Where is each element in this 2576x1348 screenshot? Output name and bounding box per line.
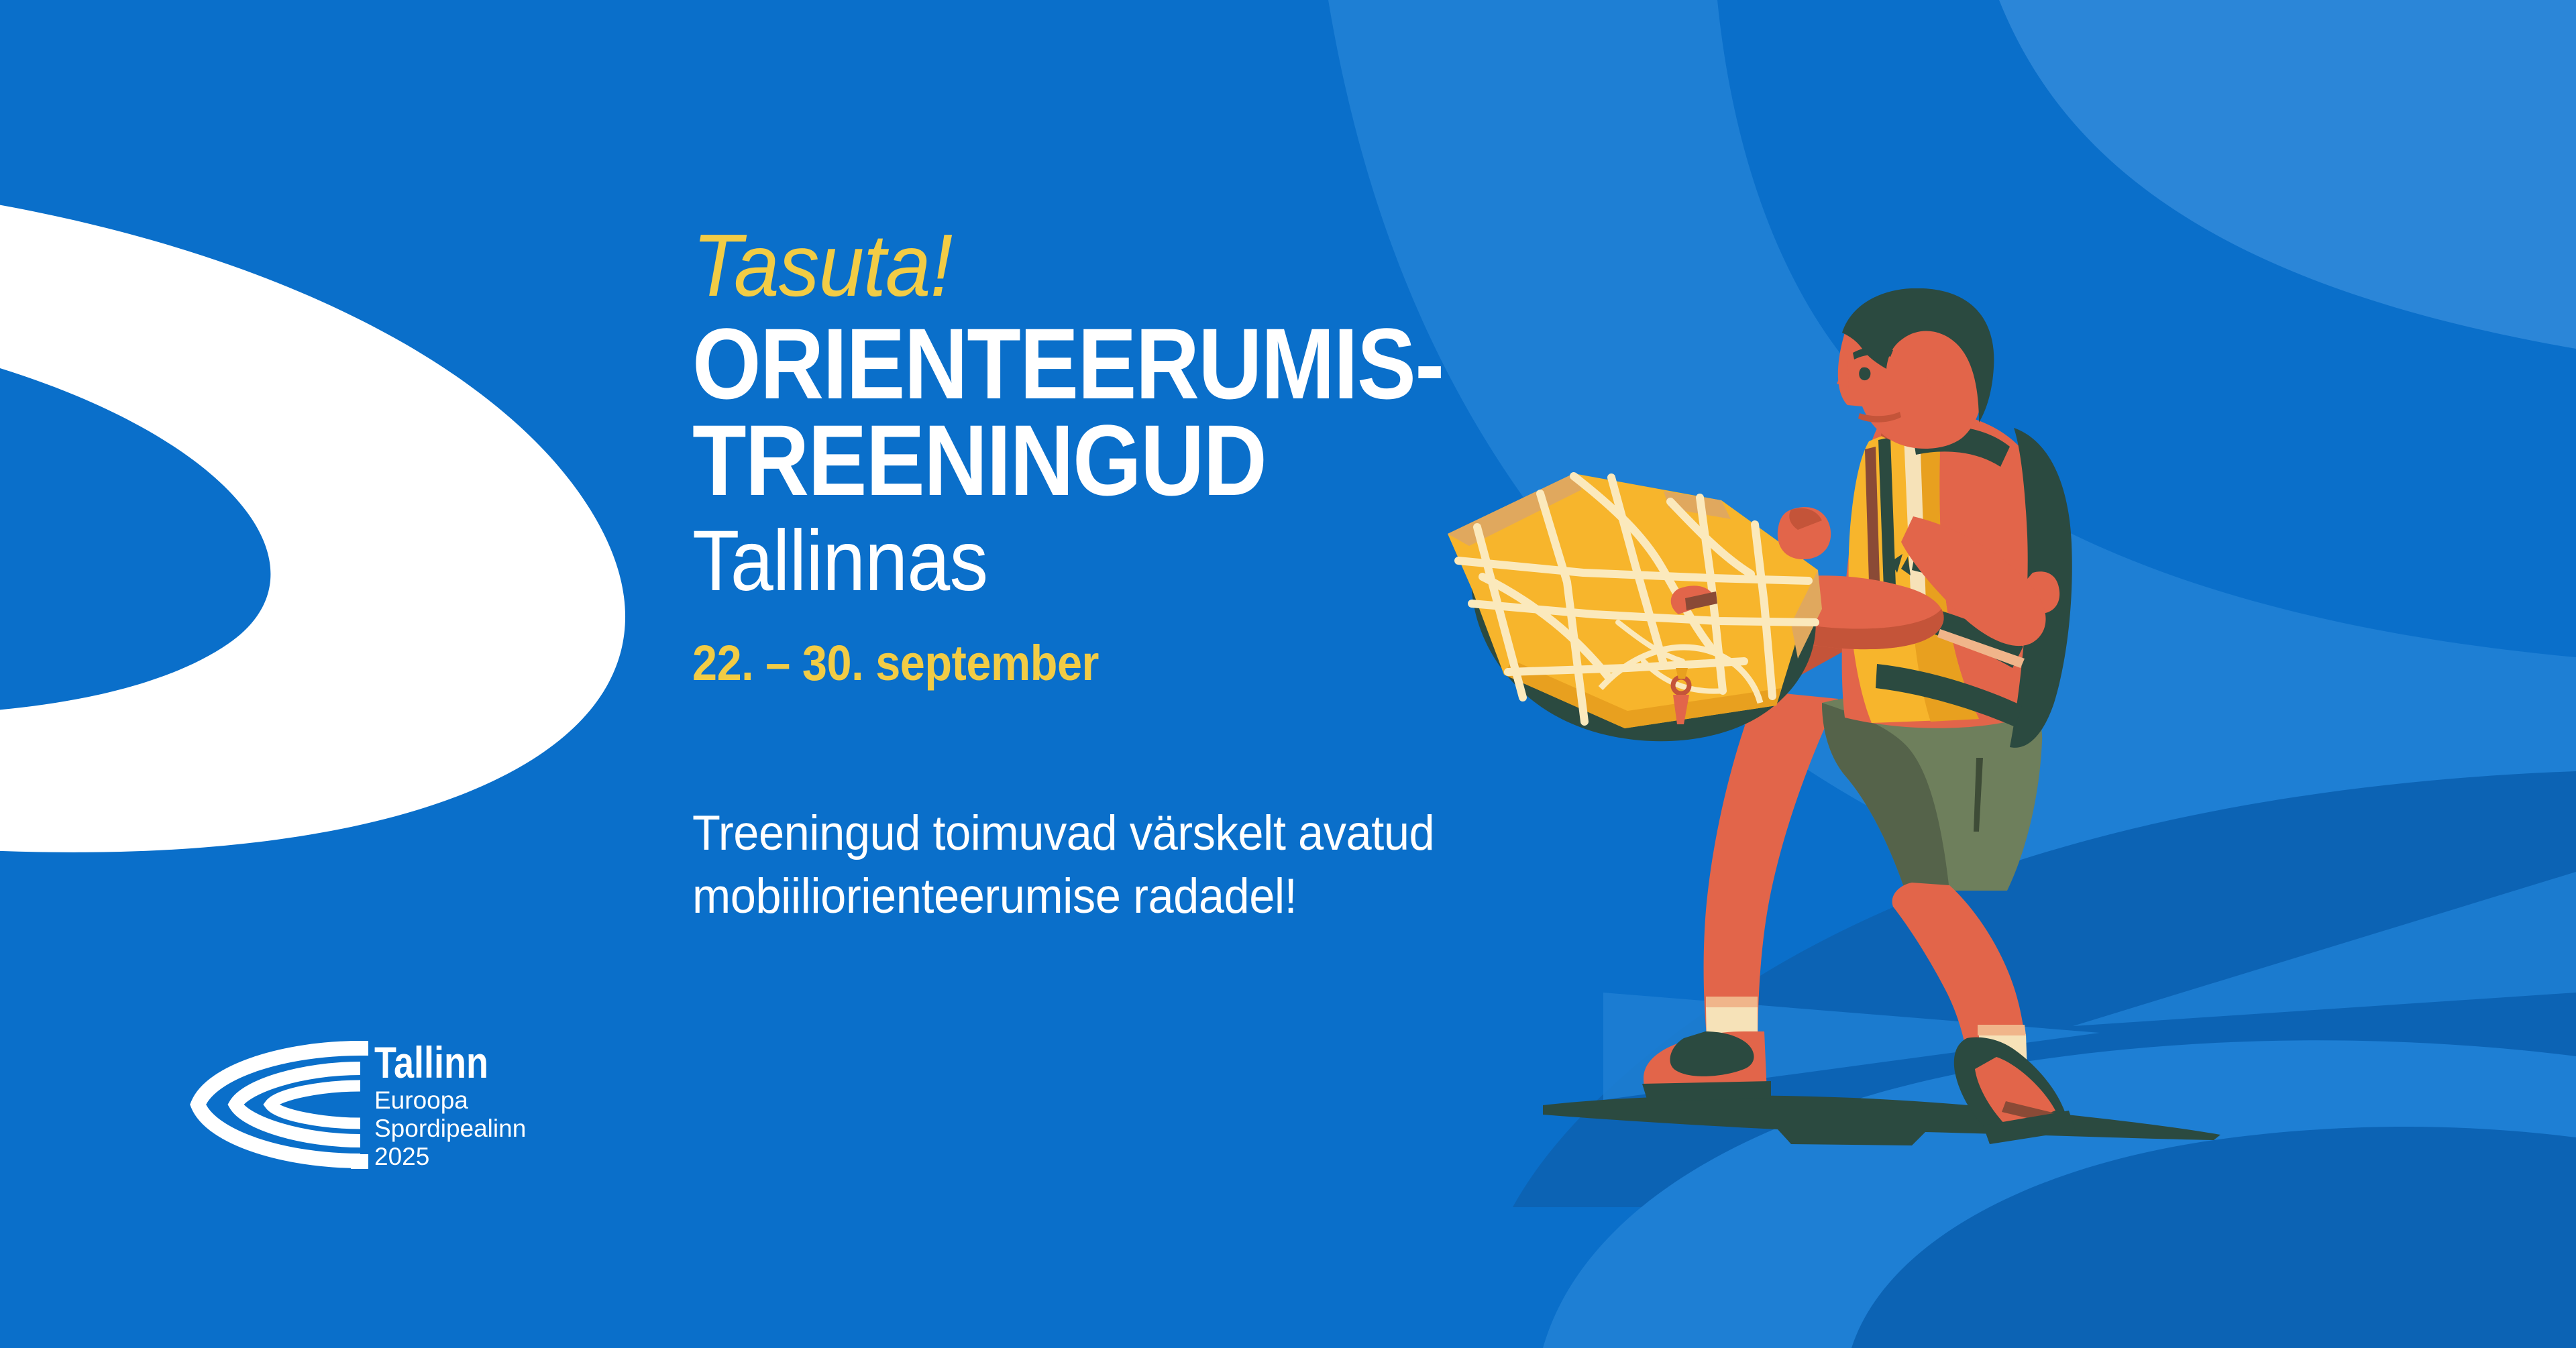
back-sock-stripe xyxy=(1706,997,1758,1007)
logo-arc-cap-top xyxy=(351,1041,368,1056)
logo-wordmark: Tallinn xyxy=(374,1037,488,1087)
back-shoe-sole xyxy=(1642,1081,1771,1101)
body-line-1: Treeningud toimuvad värskelt avatud xyxy=(692,802,1638,864)
copy-block: Tasuta! ORIENTEERUMIS- TREENINGUD Tallin… xyxy=(692,221,1699,928)
headline: ORIENTEERUMIS- TREENINGUD xyxy=(692,315,1578,508)
logo-arcs-icon xyxy=(198,1048,360,1161)
body-line-2: mobiiliorienteerumise radadel! xyxy=(692,865,1638,928)
logo-year: 2025 xyxy=(374,1143,429,1170)
body-text: Treeningud toimuvad värskelt avatud mobi… xyxy=(692,802,1638,928)
logo-line-euroopa: Euroopa xyxy=(374,1086,468,1114)
logo-arc-cap-bottom xyxy=(351,1154,368,1169)
eye xyxy=(1859,368,1870,380)
city-name: Tallinnas xyxy=(692,516,1598,606)
tallinn-logo-svg: Tallinn Euroopa Spordipealinn 2025 xyxy=(184,1029,560,1180)
promo-banner: Tasuta! ORIENTEERUMIS- TREENINGUD Tallin… xyxy=(0,0,2576,1348)
kicker-tasuta: Tasuta! xyxy=(692,221,1618,310)
headline-line-2: TREENINGUD xyxy=(692,412,1578,508)
front-sock-stripe xyxy=(1978,1025,2026,1035)
ground-shadow xyxy=(1543,1096,2220,1146)
logo-line-spordipealinn: Spordipealinn xyxy=(374,1115,526,1142)
headline-line-1: ORIENTEERUMIS- xyxy=(692,307,1443,420)
tallinn-logo: Tallinn Euroopa Spordipealinn 2025 xyxy=(184,1029,560,1180)
date-range: 22. – 30. september xyxy=(692,638,1598,688)
